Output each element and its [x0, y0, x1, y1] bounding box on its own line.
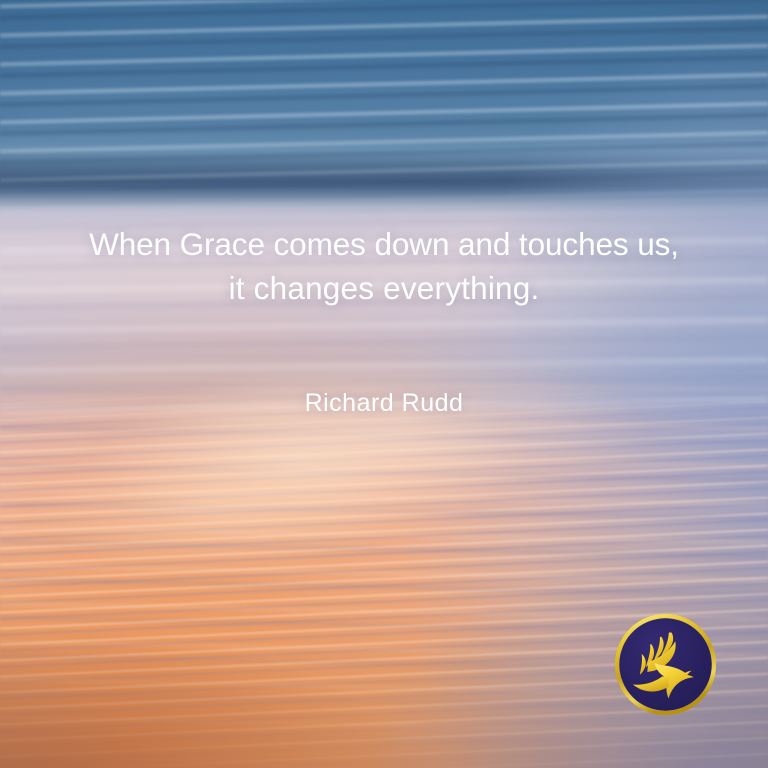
quote-line-1: When Grace comes down and touches us,: [40, 222, 728, 266]
dove-badge-graphic: [615, 614, 716, 715]
quote-block: When Grace comes down and touches us, it…: [0, 222, 768, 310]
dove-badge[interactable]: [615, 614, 716, 715]
quote-author: Richard Rudd: [0, 386, 768, 420]
quote-line-2: it changes everything.: [40, 266, 728, 310]
quote-card: When Grace comes down and touches us, it…: [0, 0, 768, 768]
